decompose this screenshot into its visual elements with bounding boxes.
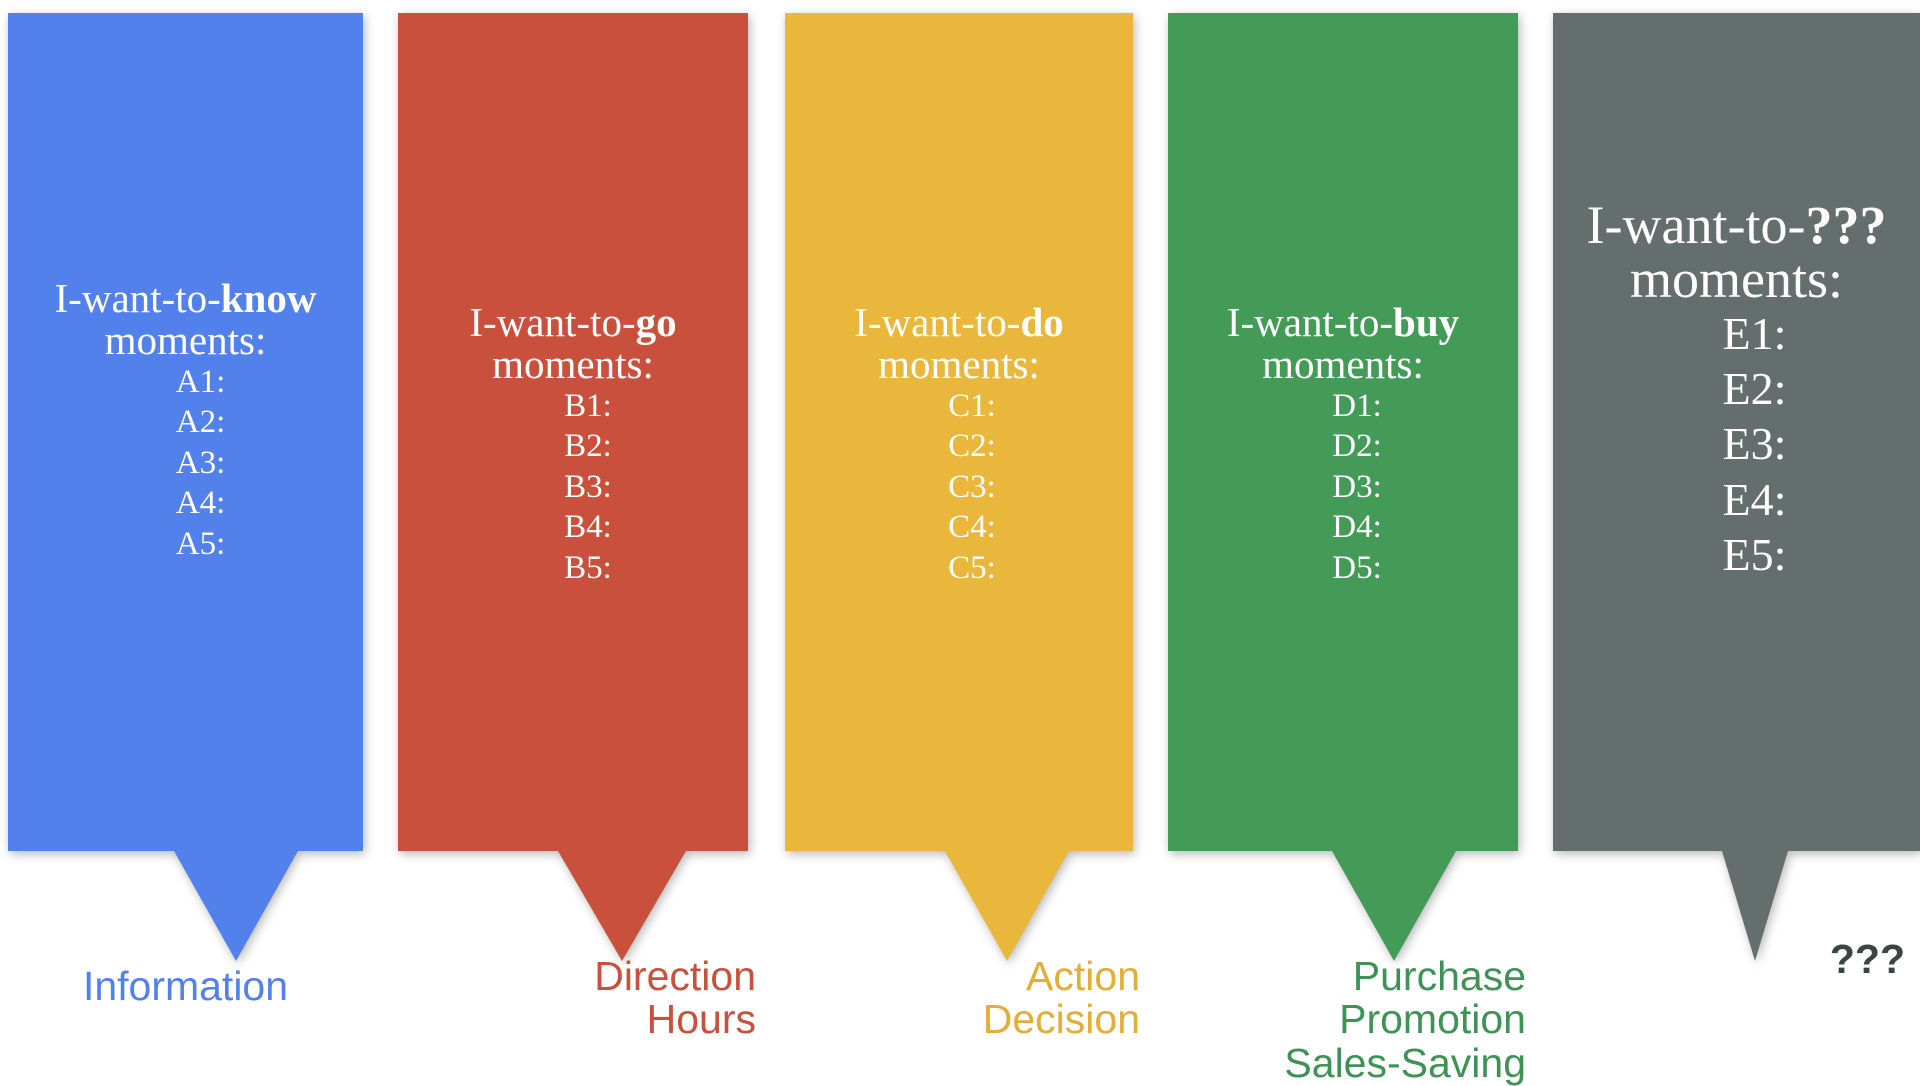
- caption-go: Direction Hours: [398, 955, 756, 1042]
- banner-polygon: [398, 13, 748, 961]
- column-unknown[interactable]: I-want-to-??? moments: E1: E2: E3: E4: E…: [1553, 0, 1920, 1080]
- banner-shape-do: [785, 13, 1133, 963]
- banner-shape-unknown: [1553, 13, 1920, 963]
- banner-polygon: [1168, 13, 1518, 961]
- diagram-canvas: I-want-to-know moments: A1: A2: A3: A4: …: [0, 0, 1920, 1080]
- column-go[interactable]: I-want-to-go moments: B1: B2: B3: B4: B5…: [398, 0, 748, 1080]
- column-buy[interactable]: I-want-to-buy moments: D1: D2: D3: D4: D…: [1168, 0, 1518, 1080]
- banner-shape-go: [398, 13, 748, 963]
- banner-polygon: [785, 13, 1133, 961]
- banner-shape-buy: [1168, 13, 1518, 963]
- caption-unknown: ???: [1553, 938, 1905, 981]
- banner-polygon: [1553, 13, 1920, 961]
- caption-know: Information: [0, 965, 371, 1008]
- column-do[interactable]: I-want-to-do moments: C1: C2: C3: C4: C5…: [785, 0, 1133, 1080]
- caption-buy: Purchase Promotion Sales-Saving: [1168, 955, 1526, 1085]
- banner-polygon: [8, 13, 363, 961]
- column-know[interactable]: I-want-to-know moments: A1: A2: A3: A4: …: [8, 0, 363, 1080]
- banner-shape-know: [8, 13, 363, 963]
- caption-do: Action Decision: [785, 955, 1140, 1042]
